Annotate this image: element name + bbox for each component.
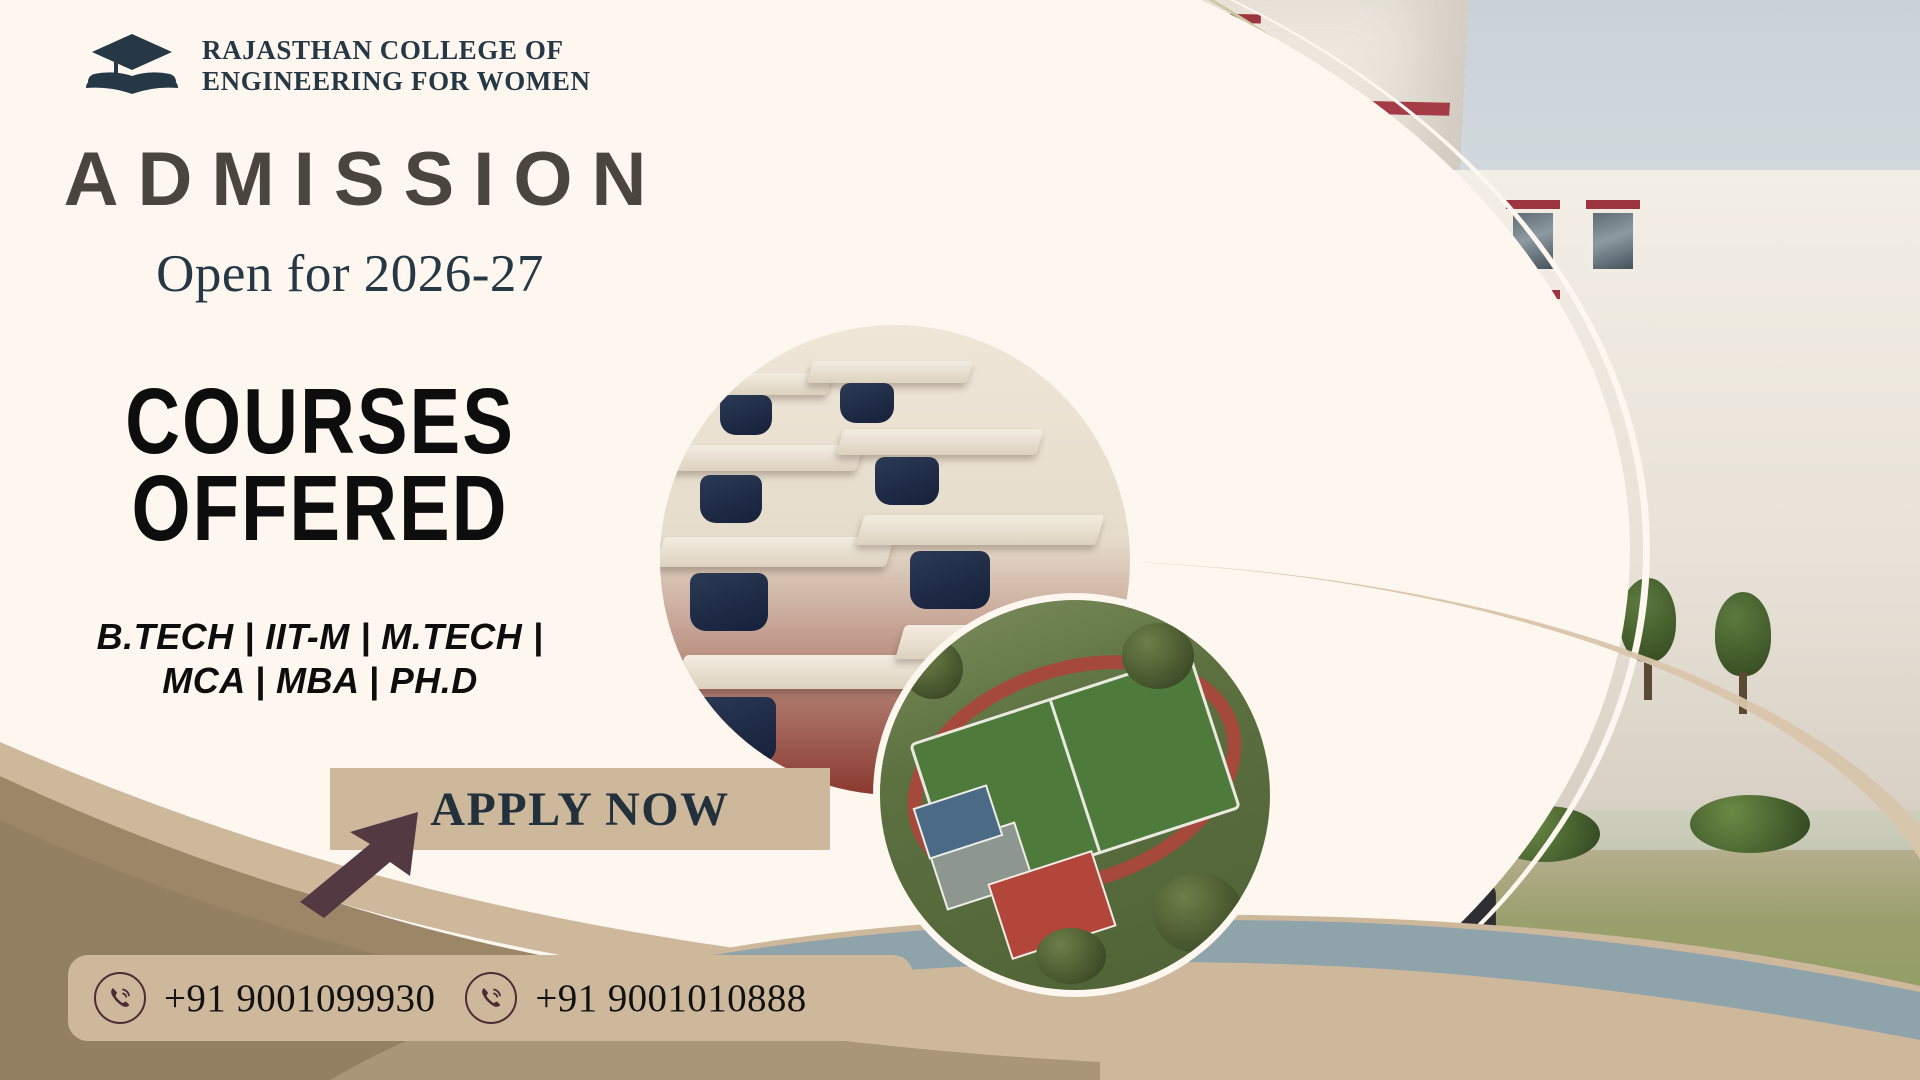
tree	[903, 639, 963, 699]
sports-ground-photo	[880, 600, 1270, 990]
brand-name: RAJASTHAN COLLEGE OF ENGINEERING FOR WOM…	[202, 35, 591, 97]
courses-list-line-1: B.TECH | IIT-M | M.TECH |	[60, 615, 580, 659]
courses-list: B.TECH | IIT-M | M.TECH | MCA | MBA | PH…	[60, 615, 580, 703]
phone-call-icon	[465, 972, 517, 1024]
courses-heading: COURSES OFFERED	[60, 380, 580, 552]
desk	[807, 361, 973, 383]
page-title: ADMISSION	[30, 142, 680, 218]
graduation-cap-book-icon	[84, 30, 180, 102]
brand-line-1: RAJASTHAN COLLEGE OF	[202, 35, 591, 66]
page-subtitle: Open for 2026-27	[20, 248, 680, 301]
chair	[875, 457, 939, 505]
desk	[856, 515, 1105, 545]
phone-call-icon	[94, 972, 146, 1024]
brand-line-2: ENGINEERING FOR WOMEN	[202, 66, 591, 97]
tree	[1153, 873, 1243, 953]
contact-bar: +91 9001099930 +91 9001010888	[68, 955, 913, 1041]
courses-heading-line-1: COURSES	[60, 380, 580, 466]
brand-lockup: RAJASTHAN COLLEGE OF ENGINEERING FOR WOM…	[84, 30, 591, 102]
courses-heading-line-2: OFFERED	[60, 466, 580, 552]
arrow-up-right-icon	[290, 810, 420, 920]
chair	[840, 383, 894, 423]
tree	[1036, 928, 1106, 984]
contact-item[interactable]: +91 9001099930	[94, 972, 435, 1024]
phone-number: +91 9001099930	[164, 976, 435, 1021]
contact-item[interactable]: +91 9001010888	[465, 972, 806, 1024]
phone-number: +91 9001010888	[535, 976, 806, 1021]
admission-poster: AMMA CHANDRAWATI GIRL'S HOSTEL	[0, 0, 1920, 1080]
poster-content: RAJASTHAN COLLEGE OF ENGINEERING FOR WOM…	[0, 0, 800, 1080]
tree	[1122, 623, 1194, 689]
desk	[836, 429, 1043, 455]
courses-list-line-2: MCA | MBA | PH.D	[60, 659, 580, 703]
